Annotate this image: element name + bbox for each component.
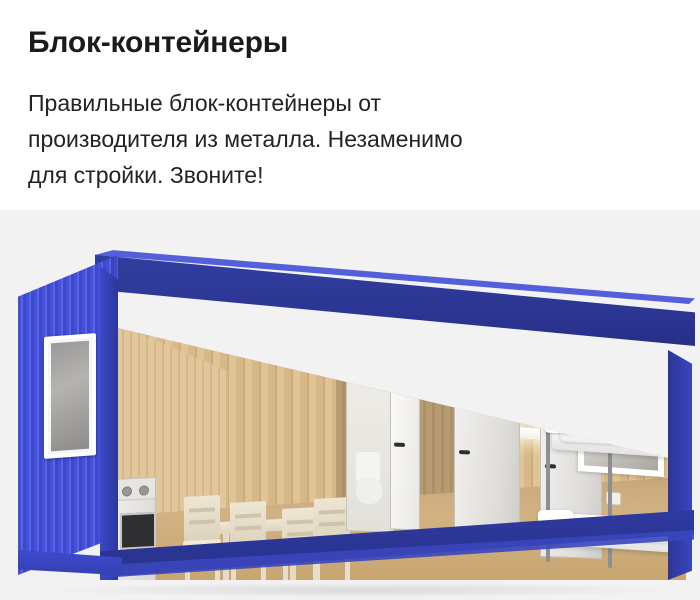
block-container-illustration <box>0 210 700 600</box>
chair <box>184 495 220 541</box>
front-frame-left <box>100 260 118 580</box>
page-title: Блок-контейнеры <box>28 26 672 59</box>
product-image <box>0 210 700 600</box>
bunk-rail <box>546 417 612 427</box>
front-frame-right <box>668 350 692 580</box>
wall-box <box>360 345 392 379</box>
bedroom-window <box>578 397 664 477</box>
chair-back <box>230 501 266 547</box>
side-window <box>44 333 96 459</box>
pillow <box>543 416 578 433</box>
window-glass <box>584 403 658 470</box>
text-block: Блок-контейнеры Правильные блок-контейне… <box>0 0 700 210</box>
door-handle-icon <box>394 443 405 447</box>
stove-cooktop <box>115 478 155 501</box>
ceiling-light-kitchen-icon <box>160 316 320 335</box>
bathroom-door <box>390 355 420 530</box>
toilet <box>356 478 382 504</box>
page-description: Правильные блок-контейнеры от производит… <box>28 85 498 193</box>
page-root: Блок-контейнеры Правильные блок-контейне… <box>0 0 700 600</box>
drop-shadow <box>40 582 680 598</box>
bathroom-doorway <box>346 351 394 533</box>
stove-burner <box>139 485 149 496</box>
door-handle-icon <box>459 450 470 454</box>
window-glass <box>51 341 89 452</box>
stove-burner <box>122 486 132 497</box>
stove-oven <box>120 512 156 550</box>
chair <box>230 501 266 547</box>
chair-back <box>184 495 220 541</box>
interior-door <box>454 365 520 549</box>
